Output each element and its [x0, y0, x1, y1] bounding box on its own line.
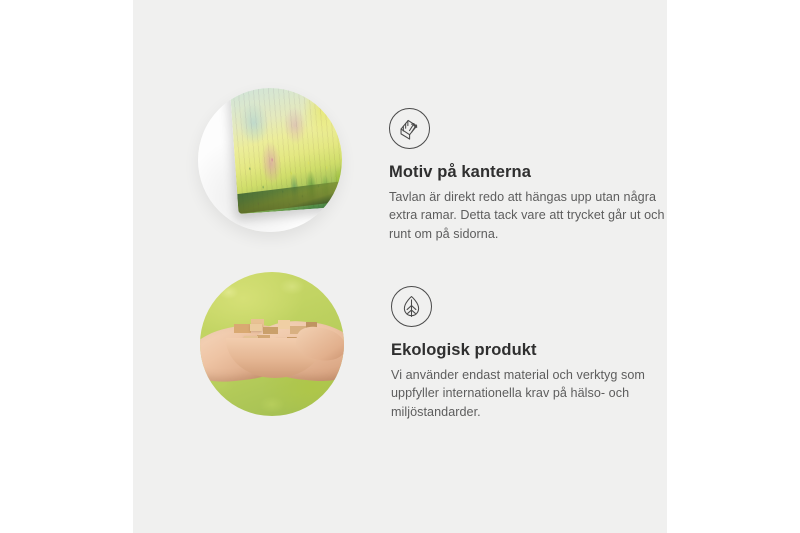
feature-title: Ekologisk produkt	[391, 341, 691, 361]
product-feature-banner: Motiv på kanterna Tavlan är direkt redo …	[0, 0, 800, 533]
feature-text-block: Motiv på kanterna Tavlan är direkt redo …	[389, 88, 679, 244]
canvas-wrapped-edges-glyph	[397, 116, 422, 141]
content-panel	[133, 0, 667, 533]
canvas-print-block	[230, 88, 342, 214]
canvas-print-corner-photo	[198, 88, 342, 232]
hands-holding-wood-chips-photo	[200, 272, 344, 416]
feature-text-block: Ekologisk produkt Vi använder endast mat…	[391, 272, 691, 422]
canvas-wrapped-edges-icon	[389, 108, 430, 149]
feature-row-ekologisk-produkt: Ekologisk produkt Vi använder endast mat…	[200, 272, 691, 422]
feature-row-motiv-pa-kanterna: Motiv på kanterna Tavlan är direkt redo …	[198, 88, 679, 244]
leaf-glyph	[399, 294, 424, 319]
leaf-icon	[391, 286, 432, 327]
feature-title: Motiv på kanterna	[389, 163, 679, 183]
feature-description: Vi använder endast material och verktyg …	[391, 366, 691, 422]
feature-description: Tavlan är direkt redo att hängas upp uta…	[389, 188, 679, 244]
